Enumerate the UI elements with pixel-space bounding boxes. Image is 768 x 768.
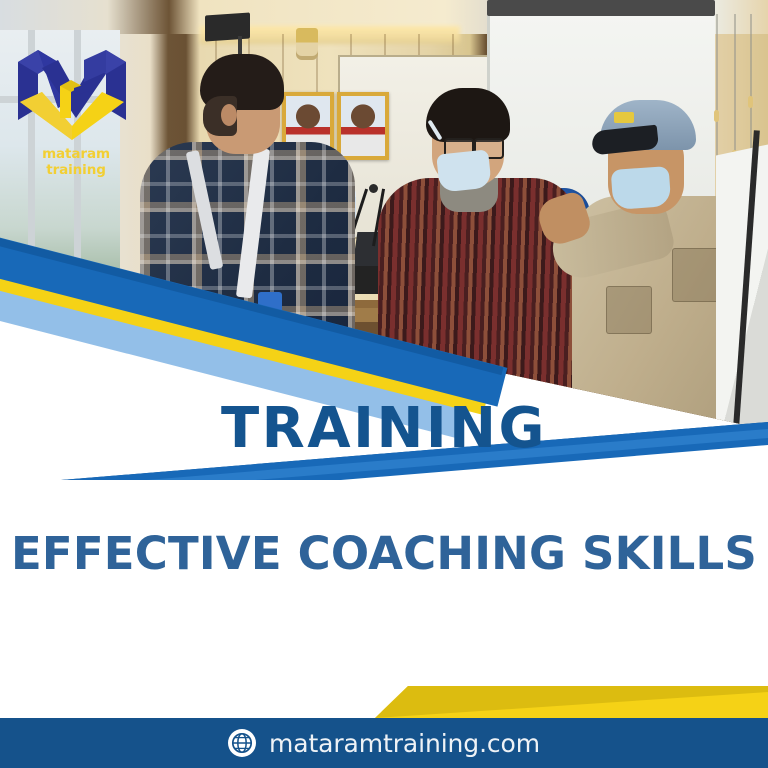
footer-bar: mataramtraining.com <box>0 718 768 768</box>
poster-subtitle: EFFECTIVE COACHING SKILLS <box>0 527 768 580</box>
poster-canvas: mataram training TRAINING EFFECTIVE COAC… <box>0 0 768 768</box>
logo-wordmark: mataram training <box>13 146 139 178</box>
mataram-m-logo-icon <box>14 46 128 142</box>
globe-icon <box>228 729 256 757</box>
brand-logo[interactable]: mataram training <box>14 46 134 174</box>
poster-title: TRAINING <box>0 396 768 461</box>
footer-website-url[interactable]: mataramtraining.com <box>269 729 540 758</box>
